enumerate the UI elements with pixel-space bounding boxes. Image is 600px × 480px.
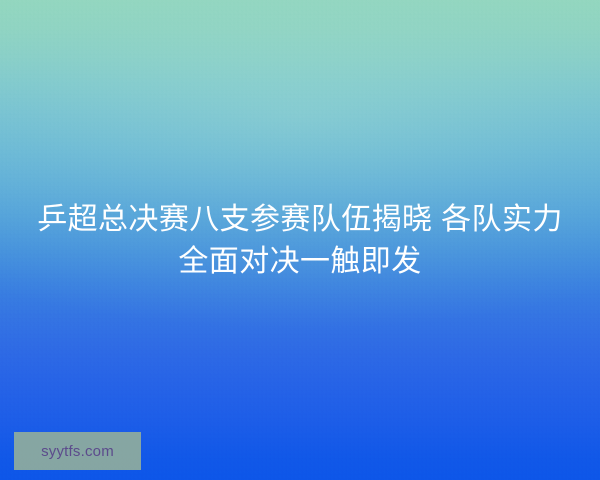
watermark-domain-text: syytfs.com [41, 444, 114, 459]
watermark-badge: syytfs.com [14, 432, 141, 470]
headline-title: 乒超总决赛八支参赛队伍揭晓 各队实力 全面对决一触即发 [0, 199, 600, 283]
cover-image-canvas: 乒超总决赛八支参赛队伍揭晓 各队实力 全面对决一触即发 syytfs.com [0, 0, 600, 480]
